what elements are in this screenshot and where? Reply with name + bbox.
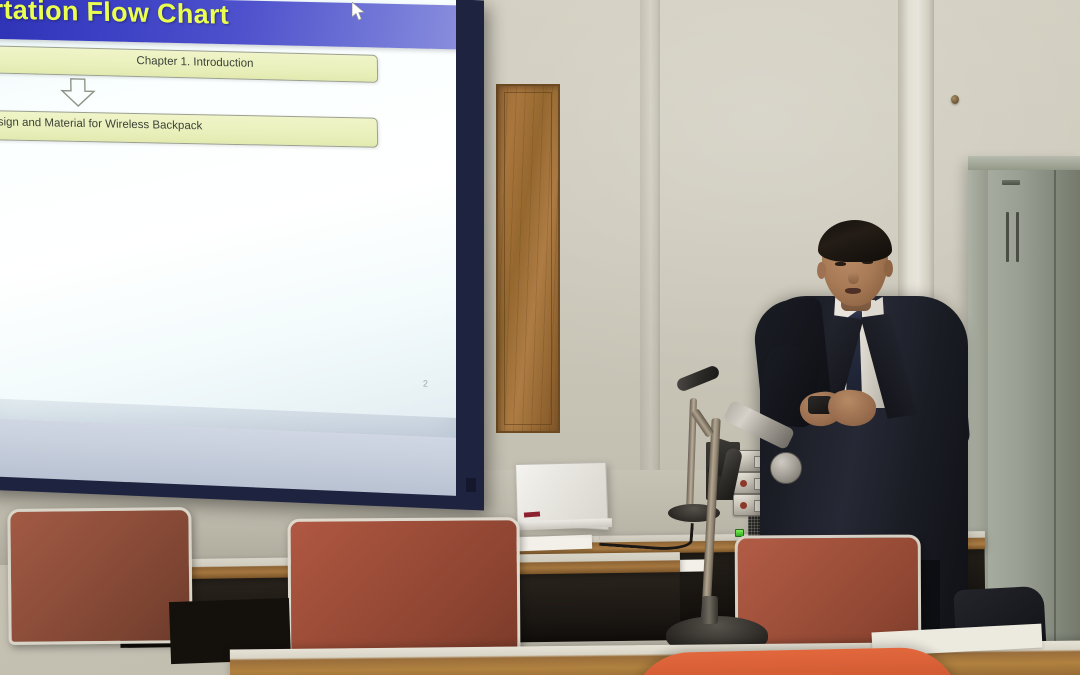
ear-right bbox=[884, 260, 893, 277]
wooden-wall-panel bbox=[496, 84, 560, 433]
chair-center[interactable] bbox=[287, 517, 520, 665]
photo-scene: sertation Flow Chart Chapter 1. Introduc… bbox=[0, 0, 1080, 675]
papers-on-table bbox=[516, 535, 592, 552]
eye-left bbox=[835, 262, 846, 266]
mouth bbox=[845, 288, 861, 294]
nose bbox=[848, 272, 859, 284]
projector-screen-edge-clip bbox=[466, 478, 476, 492]
receiver-knob[interactable] bbox=[740, 502, 747, 509]
flow-chart-box-2: stem Design and Material for Wireless Ba… bbox=[0, 109, 378, 147]
receiver-knob[interactable] bbox=[740, 480, 747, 487]
handheld-microphone-capsule bbox=[770, 452, 802, 484]
left-foreground-table bbox=[0, 603, 220, 639]
wood-grain-texture bbox=[498, 86, 558, 431]
cabinet-handle[interactable] bbox=[1002, 180, 1020, 185]
cabinet-vent-icon bbox=[1006, 212, 1009, 262]
cabinet-top-surface bbox=[968, 156, 1080, 170]
flow-chart-box-1: Chapter 1. Introduction bbox=[0, 45, 378, 83]
projector-screen-surface: sertation Flow Chart Chapter 1. Introduc… bbox=[0, 0, 456, 438]
flow-chart-box-2-label: stem Design and Material for Wireless Ba… bbox=[0, 116, 202, 133]
flow-chart-box-1-label: Chapter 1. Introduction bbox=[82, 54, 253, 70]
slide-title: sertation Flow Chart bbox=[0, 0, 229, 31]
cabinet-door-seam bbox=[1054, 162, 1056, 652]
presentation-slide: sertation Flow Chart Chapter 1. Introduc… bbox=[0, 0, 456, 418]
cabinet-vent-icon bbox=[1016, 212, 1019, 262]
ear-left bbox=[817, 262, 826, 279]
slide-page-number: 2 bbox=[423, 379, 428, 389]
wall-seam bbox=[658, 0, 660, 470]
wall-shadow-band bbox=[640, 0, 658, 470]
wall-screw-icon bbox=[951, 95, 959, 104]
front-microphone-collar bbox=[702, 596, 718, 624]
down-arrow-icon bbox=[58, 78, 99, 109]
